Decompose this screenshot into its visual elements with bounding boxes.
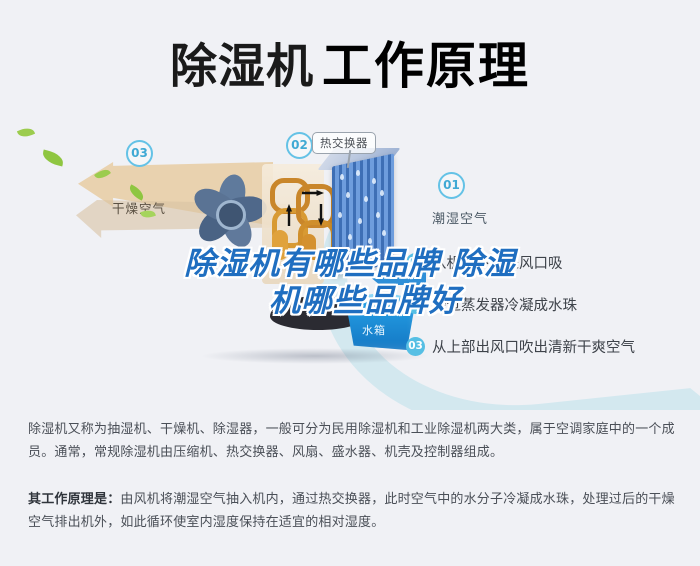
humid-air-label: 潮湿空气	[432, 208, 488, 227]
machine-assembly: 水箱	[262, 146, 412, 361]
callout-02: 02	[286, 132, 313, 159]
leaf-icon	[17, 125, 35, 139]
step-badge: 03	[406, 337, 425, 356]
fan-hub	[216, 200, 246, 230]
step-item-03: 03 从上部出风口吹出清新干爽空气	[406, 336, 635, 357]
callout-03: 03	[126, 140, 153, 167]
step-badge: 02	[406, 295, 425, 314]
callout-01: 01	[438, 172, 465, 199]
water-tank-label: 水箱	[362, 322, 386, 338]
compressor-coils	[268, 174, 336, 270]
condensation-droplets	[334, 166, 392, 264]
fan-illustration	[186, 170, 270, 254]
step-item-01: 01 从机器下部进风口吸	[406, 252, 563, 273]
compressor-cylinder	[302, 234, 316, 260]
paragraph-2-lead: 其工作原理是：	[28, 492, 120, 507]
step-text: 经过蒸发器冷凝成水珠	[432, 294, 577, 315]
dehumidifier-diagram: 干燥空气	[0, 110, 700, 410]
page-title-part1: 除湿机	[170, 40, 314, 95]
machine-shadow	[200, 348, 430, 364]
paragraph-1: 除湿机又称为抽湿机、干燥机、除湿器，一般可分为民用除湿机和工业除湿机两大类，属于…	[28, 418, 676, 464]
heat-exchanger-tag: 热交换器	[312, 132, 376, 154]
step-text: 从上部出风口吹出清新干爽空气	[432, 336, 635, 357]
compressor-cylinder	[272, 230, 288, 260]
body-copy: 除湿机又称为抽湿机、干燥机、除湿器，一般可分为民用除湿机和工业除湿机两大类，属于…	[28, 418, 676, 540]
dry-air-label: 干燥空气	[112, 198, 166, 217]
paragraph-2: 其工作原理是：由风机将潮湿空气抽入机内，通过热交换器，此时空气中的水分子冷凝成水…	[28, 488, 676, 534]
step-item-02: 02 经过蒸发器冷凝成水珠	[406, 294, 577, 315]
step-badge: 01	[406, 253, 425, 272]
paragraph-2-rest: 由风机将潮湿空气抽入机内，通过热交换器，此时空气中的水分子冷凝成水珠，处理过后的…	[28, 492, 675, 530]
humid-air-intake-arrow	[372, 272, 426, 285]
page-root: 除湿机工作原理 干燥空气	[0, 0, 700, 566]
leaf-icon	[41, 150, 65, 167]
page-title: 除湿机工作原理	[0, 26, 700, 98]
page-title-part2: 工作原理	[322, 37, 530, 95]
step-text: 从机器下部进风口吸	[432, 252, 563, 273]
